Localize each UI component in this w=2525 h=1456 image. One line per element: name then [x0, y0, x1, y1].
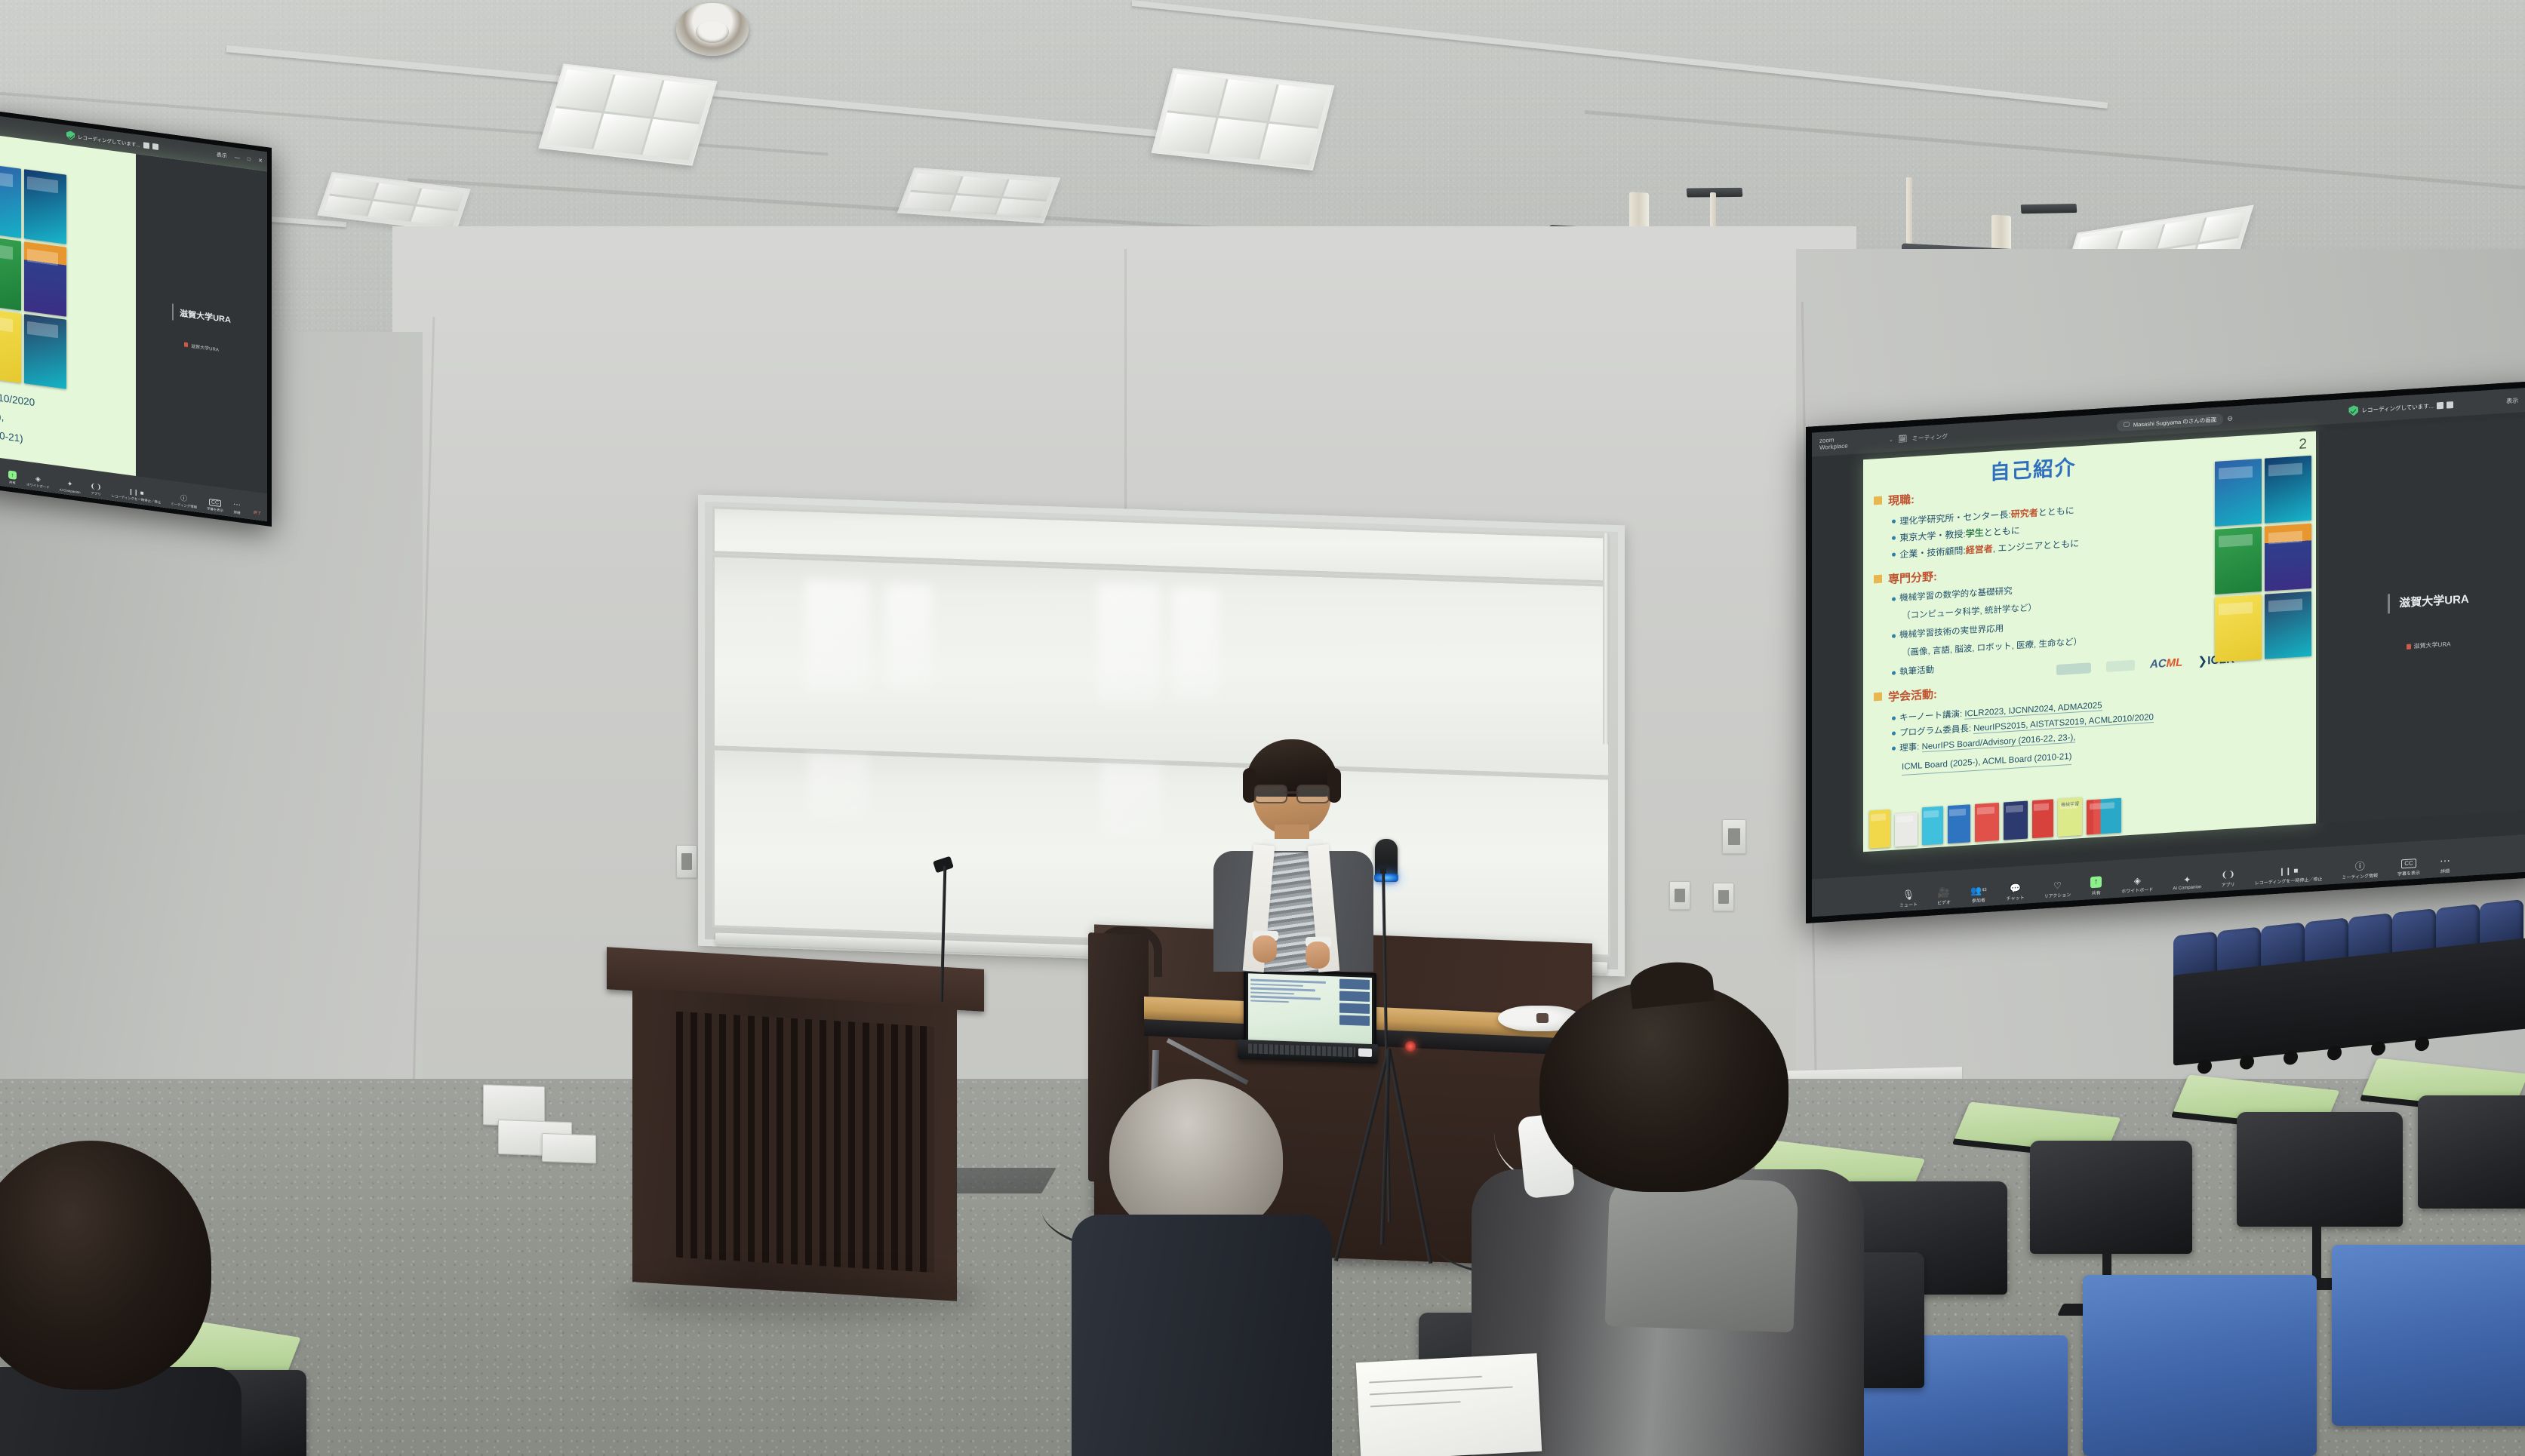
neurips-logo: [2106, 660, 2135, 672]
book-cover: [1975, 803, 1999, 842]
zoom-window-right: zoom Workplace ⌄ 🗓 ミーティング 🖵 Masashi Sugi…: [1812, 387, 2525, 917]
video-camera-icon: 🎥: [1938, 887, 1950, 898]
view-label[interactable]: 表示: [217, 151, 227, 160]
microphone-icon: 🎙: [1902, 889, 1915, 900]
shared-screen-pill: 🖵 Masashi Sugiyama のさんの画面 ⊖: [2117, 413, 2233, 432]
bullet-dot-icon: [1892, 597, 1896, 601]
pause-recording-icon[interactable]: [2437, 401, 2443, 409]
slide-bullet-list: 理化学研究所・センター長:研究者とともに 東京大学・教授:学生とともに 企業・技…: [1892, 502, 2079, 564]
box: [542, 1133, 596, 1164]
projector-safety-rod: [1906, 177, 1912, 244]
laptop-trackpad[interactable]: [1358, 1048, 1372, 1057]
mic-muted-icon: [2407, 644, 2411, 649]
whiteboard-glare-4: [1173, 588, 1219, 702]
meeting-icon: 🗓: [1898, 435, 1908, 444]
shared-slide-right: 2 自己紹介 現職: 理化学研究所・センター長:研究者とともに: [1863, 431, 2316, 852]
ieee-logo: [2056, 662, 2091, 675]
toolbar-meeting-info[interactable]: ⓘ ミーティング情報: [2342, 860, 2378, 880]
slide-page-number: 2: [2299, 436, 2307, 453]
slide-bullet-list: キーノート講演: ICLR2023, IJCNN2024, ADMA2025 プ…: [1892, 695, 2154, 776]
apps-icon: ❨❩: [2221, 871, 2234, 880]
participant-name-tag: 滋賀大学URA: [184, 341, 219, 352]
book-cover: [2265, 524, 2311, 591]
laptop-keyboard[interactable]: [1248, 1043, 1355, 1057]
book-cover-grid: [2215, 456, 2311, 662]
book-cover: [0, 308, 21, 382]
pause-recording-icon: [143, 142, 149, 149]
ceiling-light-1: [538, 63, 717, 165]
chair-caster: [2240, 1054, 2254, 1070]
stop-recording-icon[interactable]: [2447, 401, 2453, 409]
section-marker: [1874, 496, 1882, 505]
security-shield-icon: [2348, 405, 2358, 416]
audience-hair: [0, 1141, 211, 1390]
lecture-hall-photo: レコーディングしています... 表示 — □ ✕ 2 自己紹介: [0, 0, 2525, 1456]
bullet-dot-icon: [1892, 634, 1896, 638]
zoom-window-left: レコーディングしています... 表示 — □ ✕ 2 自己紹介: [0, 114, 267, 521]
chair-backrest: [2030, 1141, 2192, 1254]
presenter-glasses: [1254, 785, 1330, 801]
more-icon: ⋯: [2440, 855, 2450, 866]
stacked-boxes: [483, 1077, 604, 1172]
ai-companion-icon: ✦: [2183, 875, 2191, 885]
share-screen-icon: ↑: [8, 470, 17, 479]
chair-caster: [2197, 1058, 2212, 1074]
closed-caption-icon: CC: [2401, 859, 2416, 868]
ceiling-light-2: [1152, 68, 1335, 170]
close-button[interactable]: ✕: [258, 158, 263, 164]
audience-grey-hair: [1094, 1079, 1306, 1456]
chair-caster: [2371, 1040, 2385, 1056]
reactions-icon: ♡: [2053, 881, 2062, 891]
toolbar-mute[interactable]: 🎙 ミュート: [1899, 889, 1918, 909]
sprinkler-head-icon: [676, 3, 749, 56]
slide-bullet-list: 機械学習の数学的な基礎研究 （コンピュータ科学, 統計学など） 機械学習技術の実…: [1892, 580, 2082, 680]
projector-mount-pole: [1991, 215, 2011, 252]
lectern-body: [632, 988, 957, 1301]
chair-seat: [2332, 1245, 2525, 1426]
participant-panel-left: 滋賀大学URA 滋賀大学URA: [136, 154, 267, 503]
book-cover: [24, 169, 66, 244]
book-cover: [2215, 594, 2262, 662]
chair-seat: [2083, 1275, 2317, 1456]
book-cover: [0, 163, 21, 238]
wall-outlet-1[interactable]: [1669, 881, 1690, 910]
bullet-dot-icon: [1892, 536, 1896, 540]
chair-caster: [2415, 1036, 2429, 1052]
toolbar-ai-companion[interactable]: ✦ AI Companion: [60, 479, 81, 494]
whiteboard-panel-lower: [712, 748, 1610, 957]
participant-name: 滋賀大学URA: [2399, 591, 2469, 611]
chair-caster: [2284, 1049, 2298, 1065]
laptop-screen: [1248, 973, 1372, 1046]
toolbar-captions[interactable]: CC 字幕を表示: [207, 499, 223, 514]
recording-label: レコーディングしています...: [2361, 401, 2434, 414]
book-cover: [1869, 809, 1890, 849]
book-cover: [24, 314, 66, 389]
leave-meeting-button[interactable]: 終了: [254, 510, 261, 516]
presenter-laptop[interactable]: [1238, 969, 1375, 1071]
projection-screen-left: レコーディングしています... 表示 — □ ✕ 2 自己紹介: [0, 109, 272, 527]
slide-section: 現職:: [1874, 491, 1915, 509]
ai-companion-icon: ✦: [67, 481, 73, 488]
apps-icon: ❨❩: [91, 483, 102, 491]
participant-panel-right: 滋賀大学URA 滋賀大学URA: [2319, 417, 2525, 823]
minimize-button[interactable]: —: [235, 155, 240, 161]
participant-divider: [172, 303, 174, 320]
toolbar-whiteboard[interactable]: ◈ ホワイトボード: [26, 475, 50, 490]
mic-muted-icon: [184, 342, 188, 348]
bullet-dot-icon: [1892, 717, 1896, 720]
slide-section: 専門分野:: [1874, 568, 1937, 588]
book-cover: [2004, 801, 2028, 840]
acml-logo: ACML: [2150, 656, 2182, 671]
wall-plate-left[interactable]: [676, 845, 697, 878]
info-icon: ⓘ: [2355, 861, 2365, 871]
book-cover-row: 機械学習: [1869, 795, 2121, 849]
chat-icon: 💬: [2010, 883, 2021, 893]
audience-papers: [1356, 1353, 1542, 1456]
book-cover: [2215, 459, 2262, 527]
wall-outlet-2[interactable]: [1713, 883, 1734, 911]
book-cover: [2265, 456, 2311, 524]
usb-indicator-light: [1405, 1041, 1416, 1052]
chair-backrest: [2237, 1112, 2403, 1227]
toolbar-captions[interactable]: CC 字幕を表示: [2397, 859, 2420, 877]
collapse-icon[interactable]: ⊖: [2227, 414, 2233, 422]
closed-caption-icon: CC: [209, 499, 221, 507]
book-cover: [0, 235, 21, 310]
toolbar-whiteboard[interactable]: ◈ ホワイトボード: [2121, 875, 2153, 895]
screen-share-icon: 🖵: [2124, 421, 2130, 429]
stop-recording-icon: [152, 143, 158, 150]
whiteboard-side-rail: [1603, 533, 1609, 744]
whiteboard-glare-2: [887, 584, 932, 691]
toolbar-more[interactable]: ⋯ 詳細: [2440, 855, 2450, 874]
toolbar-share-screen[interactable]: ↑ 共有: [2090, 876, 2102, 896]
toolbar-video[interactable]: 🎥 ビデオ: [1937, 887, 1951, 906]
toolbar-apps[interactable]: ❨❩ アプリ: [91, 483, 102, 497]
participants-icon: 👥43: [1970, 886, 1987, 895]
bullet-dot-icon: [1892, 671, 1896, 675]
chevron-down-icon[interactable]: ⌄: [1889, 437, 1893, 443]
record-pause-stop-icon: ❙❙ ■: [128, 489, 143, 497]
bullet-dot-icon: [1892, 732, 1896, 736]
slide-section: 学会活動:: [1874, 686, 1937, 705]
whiteboard-panel-upper: [712, 554, 1610, 777]
presenter: [1198, 745, 1387, 972]
recording-label: レコーディングしています...: [78, 133, 140, 149]
wall-seam-mid: [1124, 249, 1127, 536]
book-cover: [2265, 591, 2311, 659]
zoom-app-name: zoom Workplace: [1819, 435, 1856, 451]
chair-caster: [2327, 1045, 2342, 1061]
lectern-shadow: [619, 1275, 981, 1320]
society-logo-row: ACML ❯ICLR: [2056, 652, 2234, 677]
book-cover: [24, 241, 66, 316]
slide-title: 自己紹介: [1863, 443, 2203, 493]
lectern: [617, 948, 972, 1308]
audience-masked-dark-hair: [1524, 981, 1841, 1456]
whiteboard-icon: ◈: [35, 475, 41, 483]
section-heading: 専門分野:: [1888, 568, 1937, 587]
book-cover: 機械学習: [2058, 797, 2082, 837]
whiteboard-glare-1: [805, 579, 869, 695]
bullet-dot-icon: [1892, 747, 1896, 751]
section-heading: 現職:: [1888, 491, 1915, 508]
section-heading: 学会活動:: [1888, 686, 1937, 705]
maximize-button[interactable]: □: [248, 156, 251, 162]
presenter-hand-right: [1306, 941, 1330, 969]
security-shield-icon: [66, 131, 75, 140]
toolbar-ai-companion[interactable]: ✦ AI Companion: [2173, 874, 2201, 891]
audience-hair: [1109, 1079, 1283, 1237]
audience-hair: [1539, 981, 1788, 1192]
projector-bracket: [2021, 204, 2078, 213]
projection-screen-right: zoom Workplace ⌄ 🗓 ミーティング 🖵 Masashi Sugi…: [1806, 380, 2525, 923]
meeting-label: ミーティング: [1912, 432, 1948, 443]
book-cover: [1922, 806, 1943, 846]
wall-switch-panel[interactable]: [1722, 819, 1746, 854]
presenter-hand-left: [1253, 935, 1277, 963]
record-pause-stop-icon: ❙❙ ■: [2279, 868, 2299, 877]
participant-divider: [2388, 594, 2390, 613]
book-cover: [1948, 804, 1970, 843]
chair-backrest: [2418, 1095, 2525, 1209]
laptop-base: [1238, 1040, 1378, 1064]
section-marker: [1874, 575, 1882, 584]
more-icon: ⋯: [233, 501, 241, 509]
book-cover: [2087, 798, 2121, 835]
laptop-lid: [1244, 969, 1376, 1050]
list-item: 機械学習の数学的な基礎研究 （コンピュータ科学, 統計学など）: [1892, 580, 2082, 625]
toolbar-chat[interactable]: 💬 チャット: [2007, 883, 2025, 902]
whiteboard-icon: ◈: [2134, 876, 2141, 886]
toolbar-recording[interactable]: ❙❙ ■ レコーディングを一時停止／停止: [112, 487, 161, 505]
book-cover-grid: [0, 163, 66, 389]
share-screen-icon: ↑: [2090, 876, 2102, 888]
book-cover: [2215, 527, 2262, 594]
participant-name-tag: 滋賀大学URA: [2407, 640, 2451, 651]
book-cover: [1895, 812, 1918, 847]
whiteboard: [698, 495, 1625, 977]
list-item: 機械学習技術の実世界応用 （画像, 言語, 脳波, ロボット, 医療, 生命など…: [1892, 617, 2082, 662]
whiteboard-glare-3: [1098, 583, 1160, 706]
toolbar-share-screen[interactable]: ↑ 共有: [8, 470, 17, 485]
laptop-screen-thumbnails: [1339, 979, 1370, 1043]
view-label[interactable]: 表示: [2506, 396, 2518, 405]
toolbar-reactions[interactable]: ♡ リアクション: [2044, 880, 2071, 899]
toolbar-apps[interactable]: ❨❩ アプリ: [2221, 871, 2234, 888]
laptop-screen-text: [1250, 975, 1338, 1042]
audience-hood: [1605, 1175, 1799, 1333]
shared-screen-label: Masashi Sugiyama のさんの画面: [2133, 415, 2216, 429]
participant-name: 滋賀大学URA: [180, 306, 231, 325]
audience-shoulders: [1072, 1215, 1332, 1456]
whiteboard-glare-5: [808, 753, 869, 820]
whiteboard-glare-6: [1101, 763, 1161, 837]
bullet-dot-icon: [1892, 520, 1896, 524]
lectern-slat-panel: [676, 1012, 934, 1273]
toolbar-participants[interactable]: 👥43 参加者: [1970, 886, 1987, 904]
toolbar-meeting-info[interactable]: ⓘ ミーティング情報: [171, 493, 197, 510]
toolbar-more[interactable]: ⋯ 詳細: [233, 501, 241, 515]
bullet-dot-icon: [1892, 553, 1896, 557]
audience-front-left: [0, 1141, 241, 1456]
section-marker: [1874, 693, 1882, 702]
toolbar-recording[interactable]: ❙❙ ■ レコーディングを一時停止／停止: [2255, 866, 2323, 886]
book-cover: [2032, 799, 2053, 838]
info-icon: ⓘ: [180, 495, 187, 502]
chair-leg: [2312, 1222, 2321, 1284]
